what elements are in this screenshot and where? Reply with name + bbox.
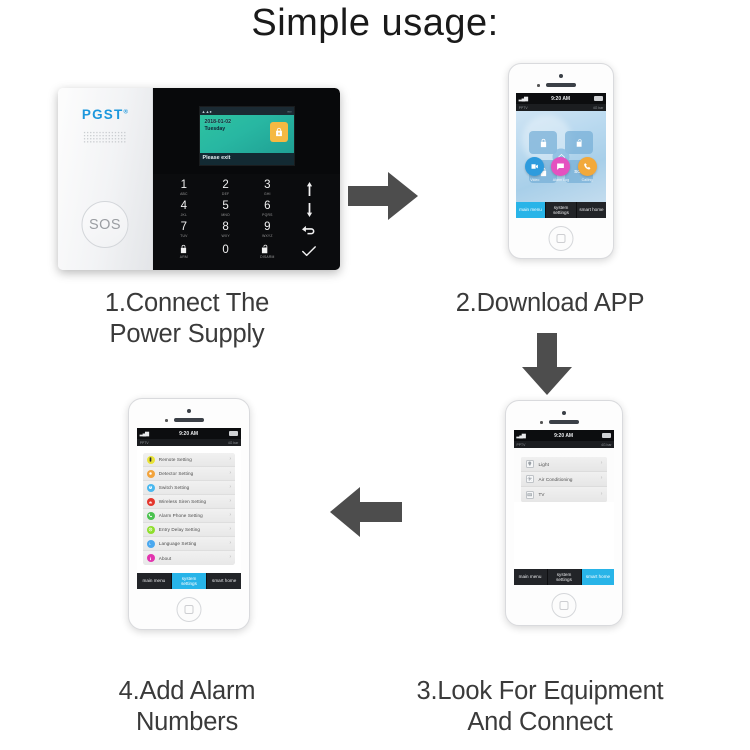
battery-icon: [594, 96, 603, 101]
tab-bar[interactable]: main menu system settings smart home: [516, 202, 607, 218]
tab-main-menu[interactable]: main menu: [516, 202, 547, 218]
phone-icon-circle: [578, 157, 597, 176]
lcd-main-area: 2018-01-02 Tuesday: [200, 115, 294, 153]
shortcut-calling-label: Calling: [578, 178, 597, 182]
chevron-right-icon: ›: [601, 492, 603, 498]
simple-usage-infographic: Simple usage: PGST® SOS ▲▲● ▫▫▫ 2018-01-…: [0, 0, 750, 750]
chevron-right-icon: ›: [229, 457, 231, 463]
home-button[interactable]: [549, 226, 574, 251]
key-digit: 7: [180, 222, 187, 234]
secondary-status-left: PPTV: [140, 441, 149, 445]
earpiece-speaker-icon: [174, 418, 204, 422]
key-digit: 1: [180, 180, 188, 192]
key-up-arrow[interactable]: [306, 182, 313, 196]
list-item-about[interactable]: About ›: [143, 551, 235, 565]
chevron-right-icon: ›: [229, 471, 231, 477]
key-digit: 2: [222, 180, 229, 192]
app-main-menu: SOS Video: [516, 111, 607, 202]
front-camera-icon: [187, 409, 191, 413]
list-item-wireless-siren-setting-label: Wireless Siren Setting: [159, 499, 226, 504]
down-arrow-icon: [306, 203, 313, 217]
signal-icon: ▂▄▆: [140, 431, 148, 437]
phone-screen-system-settings: ▂▄▆ 9:20 AM PPTV 4G bar Remote Setting ›: [137, 428, 241, 589]
lcd-status-bar: ▲▲● ▫▫▫: [200, 107, 294, 115]
log-icon-circle: [551, 157, 570, 176]
proximity-sensor-icon: [540, 421, 543, 424]
sos-label: SOS: [89, 217, 121, 233]
disarm-button[interactable]: [565, 131, 593, 154]
list-item-detector-setting[interactable]: Detector Setting ›: [143, 467, 235, 481]
snowflake-icon: [526, 475, 534, 483]
tab-system-settings[interactable]: system settings: [548, 569, 582, 585]
pgst-brand-logo: PGST®: [58, 107, 153, 122]
key-3[interactable]: 3GHI: [264, 180, 271, 196]
tab-main-menu[interactable]: main menu: [137, 573, 172, 589]
phone-icon: [583, 162, 592, 171]
clock-icon: [147, 526, 155, 534]
key-arm-lock[interactable]: ARM: [179, 244, 188, 259]
key-4[interactable]: 4JKL: [181, 201, 187, 217]
smart-home-group: Light › Air Conditioning ›: [521, 457, 608, 502]
caption-step-3-line-2: And Connect: [375, 707, 705, 738]
key-sublabel: GHI: [264, 193, 271, 196]
key-5[interactable]: 5MNO: [221, 201, 230, 217]
status-bar-time: 9:20 AM: [551, 96, 570, 102]
page-title: Simple usage:: [0, 2, 750, 45]
list-item-language-setting-label: Language Setting: [159, 541, 226, 546]
shortcut-calling[interactable]: Calling: [578, 157, 597, 182]
lcd-display: ▲▲● ▫▫▫ 2018-01-02 Tuesday Please exit: [199, 106, 295, 166]
tab-system-settings[interactable]: system settings: [172, 573, 207, 589]
caption-step-1-line-2: Power Supply: [42, 319, 332, 350]
list-item-light[interactable]: Light ›: [521, 457, 608, 472]
key-sublabel: DEF: [222, 193, 229, 196]
key-digit: 8: [221, 222, 229, 234]
key-7[interactable]: 7TUV: [180, 222, 187, 238]
secondary-status-right: 4G bar: [593, 106, 603, 110]
log-icon: [556, 162, 565, 171]
caption-step-1-line-1: 1.Connect The: [42, 288, 332, 319]
speaker-grille-icon: [83, 131, 127, 143]
secondary-status-right: 4G bar: [228, 441, 238, 445]
key-back[interactable]: [302, 225, 316, 236]
keypad[interactable]: 1ABC 2DEF 3GHI 4JKL 5MNO 6PQRS 7TUV 8WXY…: [153, 174, 340, 270]
back-arrow-icon: [302, 225, 316, 236]
sos-button[interactable]: SOS: [82, 201, 129, 248]
tab-bar[interactable]: main menu system settings smart home: [137, 573, 241, 589]
lcd-battery-icon: ▫▫▫: [287, 109, 291, 114]
phone-download-app: ▂▄▆ 9:20 AM PPTV 4G bar: [508, 63, 614, 259]
caption-step-2: 2.Download APP: [400, 288, 700, 319]
secondary-status-bar: PPTV 4G bar: [137, 439, 241, 446]
right-arrow-icon: [348, 172, 418, 220]
chevron-right-icon: ›: [601, 476, 603, 482]
system-settings-list: Remote Setting › Detector Setting ›: [137, 446, 241, 565]
status-bar-time: 9:20 AM: [554, 433, 573, 439]
check-icon: [302, 246, 316, 257]
key-sublabel: WXYZ: [262, 235, 273, 238]
tab-bar[interactable]: main menu system settings smart home: [514, 569, 615, 585]
tab-smart-home[interactable]: smart home: [207, 573, 241, 589]
secondary-status-bar: PPTV 4G bar: [516, 104, 607, 111]
chevron-right-icon: ›: [229, 513, 231, 519]
list-item-entry-delay-setting[interactable]: Entry Delay Setting ›: [143, 523, 235, 537]
chevron-right-icon: ›: [229, 499, 231, 505]
key-digit: 6: [262, 201, 272, 213]
remote-icon: [147, 456, 155, 464]
key-8[interactable]: 8WXY: [221, 222, 229, 238]
list-item-tv-label: TV: [539, 492, 596, 497]
key-6[interactable]: 6PQRS: [262, 201, 272, 217]
tab-system-settings[interactable]: system settings: [546, 202, 577, 218]
list-item-entry-delay-setting-label: Entry Delay Setting: [159, 527, 226, 532]
list-item-tv[interactable]: TV ›: [521, 487, 608, 502]
brand-text: PGST: [82, 107, 124, 122]
list-item-switch-setting[interactable]: Switch Setting ›: [143, 481, 235, 495]
shortcut-video[interactable]: Video: [525, 157, 544, 182]
signal-icon: ▂▄▆: [519, 96, 527, 102]
svg-text:L: L: [150, 542, 152, 546]
language-icon: L: [147, 540, 155, 548]
phone-screen-smart-home: ▂▄▆ 9:20 AM PPTV 4G bar Light ›: [514, 430, 615, 585]
front-camera-icon: [562, 411, 566, 415]
siren-icon: [147, 498, 155, 506]
panel-front-face: PGST® SOS: [58, 88, 153, 270]
status-bar: ▂▄▆ 9:20 AM: [137, 428, 241, 439]
key-confirm[interactable]: [302, 246, 316, 257]
shortcut-video-label: Video: [525, 178, 544, 182]
home-button[interactable]: [552, 593, 577, 618]
home-button-square-icon: [557, 234, 566, 243]
arrow-step2-to-step3: [522, 333, 572, 395]
key-digit: 0: [222, 245, 228, 257]
home-button-square-icon: [185, 605, 194, 614]
key-digit: 5: [221, 201, 230, 213]
lcd-status-message: Please exit: [200, 153, 294, 166]
status-bar: ▂▄▆ 9:20 AM: [514, 430, 615, 441]
caption-step-4-line-2: Numbers: [42, 707, 332, 738]
secondary-status-right: 4G bar: [601, 443, 611, 447]
key-sublabel: MNO: [221, 214, 230, 217]
list-item-remote-setting[interactable]: Remote Setting ›: [143, 453, 235, 467]
key-9[interactable]: 9WXYZ: [262, 222, 273, 238]
front-camera-icon: [559, 74, 563, 78]
caption-step-4: 4.Add Alarm Numbers: [42, 676, 332, 738]
shortcut-alarm-log[interactable]: Alarm Log: [551, 157, 570, 182]
unlock-icon: [260, 244, 270, 254]
info-icon: [147, 554, 155, 562]
settings-group: Remote Setting › Detector Setting ›: [143, 453, 235, 565]
status-bar: ▂▄▆ 9:20 AM: [516, 93, 607, 104]
disarm-icon: [575, 138, 584, 148]
switch-icon: [147, 484, 155, 492]
key-sublabel: TUV: [180, 235, 187, 238]
video-icon: [530, 162, 539, 171]
list-item-air-conditioning[interactable]: Air Conditioning ›: [521, 472, 608, 487]
caption-step-1: 1.Connect The Power Supply: [42, 288, 332, 350]
list-item-alarm-phone-setting[interactable]: Alarm Phone Setting ›: [143, 509, 235, 523]
tab-smart-home[interactable]: smart home: [577, 202, 607, 218]
home-button[interactable]: [177, 597, 202, 622]
signal-icon: ▂▄▆: [517, 433, 525, 439]
list-item-detector-setting-label: Detector Setting: [159, 471, 226, 476]
caption-step-4-line-1: 4.Add Alarm: [42, 676, 332, 707]
arrow-step1-to-step2: [348, 172, 418, 220]
list-item-wireless-siren-setting[interactable]: Wireless Siren Setting ›: [143, 495, 235, 509]
trademark-mark: ®: [123, 110, 129, 116]
left-arrow-icon: [330, 487, 402, 537]
shortcut-alarm-log-label: Alarm Log: [551, 178, 570, 182]
caption-step-3-line-1: 3.Look For Equipment: [375, 676, 705, 707]
arm-away-icon: [539, 138, 548, 148]
list-item-language-setting[interactable]: L Language Setting ›: [143, 537, 235, 551]
list-item-alarm-phone-setting-label: Alarm Phone Setting: [159, 513, 226, 518]
key-sublabel: ABC: [180, 193, 188, 196]
lcd-signal-icon: ▲▲●: [202, 109, 212, 114]
list-item-switch-setting-label: Switch Setting: [159, 485, 226, 490]
lcd-armed-lock-icon: [270, 122, 288, 142]
secondary-status-bar: PPTV 4G bar: [514, 441, 615, 448]
panel-dark-face: ▲▲● ▫▫▫ 2018-01-02 Tuesday Please exit 1…: [153, 88, 340, 270]
phone-icon: [147, 512, 155, 520]
earpiece-speaker-icon: [546, 83, 576, 87]
proximity-sensor-icon: [537, 84, 540, 87]
key-0[interactable]: 0: [222, 245, 228, 258]
arm-away-button[interactable]: [529, 131, 557, 154]
secondary-status-left: PPTV: [519, 106, 528, 110]
phone-smart-home: ▂▄▆ 9:20 AM PPTV 4G bar Light ›: [505, 400, 623, 626]
list-item-about-label: About: [159, 556, 226, 561]
key-disarm-unlock[interactable]: DISARM: [260, 244, 274, 259]
list-item-remote-setting-label: Remote Setting: [159, 457, 226, 462]
key-sublabel: PQRS: [262, 214, 272, 217]
chevron-right-icon: ›: [229, 527, 231, 533]
key-sublabel: WXY: [221, 235, 229, 238]
chevron-right-icon: ›: [601, 461, 603, 467]
tab-smart-home[interactable]: smart home: [582, 569, 615, 585]
phone-system-settings: ▂▄▆ 9:20 AM PPTV 4G bar Remote Setting ›: [128, 398, 250, 630]
battery-icon: [229, 431, 238, 436]
home-button-square-icon: [560, 601, 569, 610]
video-icon-circle: [525, 157, 544, 176]
secondary-status-left: PPTV: [517, 443, 526, 447]
proximity-sensor-icon: [165, 419, 168, 422]
chevron-right-icon: ›: [229, 541, 231, 547]
key-2[interactable]: 2DEF: [222, 180, 229, 196]
phone-screen-home: ▂▄▆ 9:20 AM PPTV 4G bar: [516, 93, 607, 218]
key-sublabel: DISARM: [260, 256, 274, 259]
app-shortcut-row: Video Alarm Log Calling: [516, 157, 607, 182]
earpiece-speaker-icon: [549, 420, 579, 424]
key-down-arrow[interactable]: [306, 203, 313, 217]
key-sublabel: ARM: [179, 256, 188, 259]
list-item-air-conditioning-label: Air Conditioning: [539, 477, 596, 482]
battery-icon: [602, 433, 611, 438]
lock-icon: [179, 244, 188, 254]
status-bar-time: 9:20 AM: [179, 431, 198, 437]
detector-icon: [147, 470, 155, 478]
bulb-icon: [526, 460, 534, 468]
key-sublabel: JKL: [181, 214, 187, 217]
alarm-control-panel: PGST® SOS ▲▲● ▫▫▫ 2018-01-02 Tuesday Ple…: [58, 88, 340, 270]
smart-home-device-list: Light › Air Conditioning ›: [514, 448, 615, 502]
chevron-right-icon: ›: [229, 555, 231, 561]
caption-step-2-line-1: 2.Download APP: [400, 288, 700, 319]
caption-step-3: 3.Look For Equipment And Connect: [375, 676, 705, 738]
key-digit: 9: [262, 222, 273, 234]
key-digit: 3: [264, 180, 271, 192]
key-1[interactable]: 1ABC: [180, 180, 188, 196]
tv-icon: [526, 491, 534, 499]
tab-main-menu[interactable]: main menu: [514, 569, 548, 585]
key-digit: 4: [181, 201, 187, 213]
list-item-light-label: Light: [539, 462, 596, 467]
down-arrow-icon: [522, 333, 572, 395]
chevron-right-icon: ›: [229, 485, 231, 491]
up-arrow-icon: [306, 182, 313, 196]
arrow-step3-to-step4: [330, 487, 402, 537]
